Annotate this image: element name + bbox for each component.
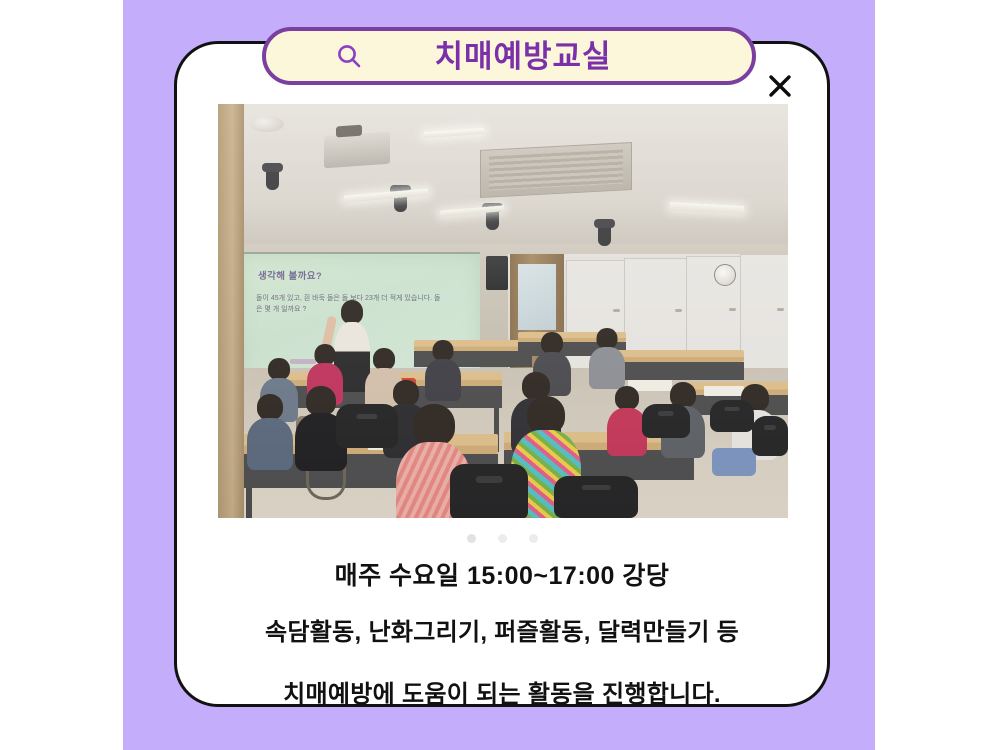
photo-aircon-vent xyxy=(480,142,632,198)
photo-image: 생각해 볼까요? 돌이 45개 있고, 흰 바둑 돌은 돌 보다 23개 더 적… xyxy=(218,104,788,518)
description-line-1: 속담활동, 난화그리기, 퍼즐활동, 달력만들기 등 xyxy=(177,621,827,645)
classroom-photo[interactable]: 생각해 볼까요? 돌이 45개 있고, 흰 바둑 돌은 돌 보다 23개 더 적… xyxy=(218,104,788,518)
photo-person-head xyxy=(433,340,454,361)
close-button[interactable] xyxy=(762,68,798,104)
photo-pillar xyxy=(218,104,244,518)
photo-chair xyxy=(336,404,398,448)
photo-table-leg xyxy=(246,488,252,518)
title-pill: 치매예방교실 xyxy=(262,27,756,85)
photo-person-head xyxy=(257,394,283,420)
schedule-text: 매주 수요일 15:00~17:00 강당 xyxy=(335,562,670,590)
description-line-2: 치매예방에 도움이 되는 활동을 진행합니다. xyxy=(177,683,827,707)
carousel-dot-3[interactable] xyxy=(529,534,538,543)
photo-slide-title: 생각해 볼까요? xyxy=(258,268,322,282)
photo-person-legs xyxy=(712,448,756,476)
photo-track-light xyxy=(598,224,611,246)
photo-chair xyxy=(752,416,788,456)
photo-chair xyxy=(450,464,528,518)
schedule-line: 매주 수요일 15:00~17:00 강당 xyxy=(325,556,680,595)
photo-person-body xyxy=(589,347,625,389)
photo-person-head xyxy=(268,358,290,380)
photo-participant xyxy=(588,328,626,386)
photo-chair xyxy=(642,404,690,438)
search-icon[interactable] xyxy=(334,41,364,71)
photo-person-body xyxy=(607,408,647,456)
photo-chair xyxy=(554,476,638,518)
photo-person-body xyxy=(425,359,461,401)
photo-track-light xyxy=(266,168,279,190)
photo-wall-clock-icon xyxy=(714,264,736,286)
screenshot-root: 생각해 볼까요? 돌이 45개 있고, 흰 바둑 돌은 돌 보다 23개 더 적… xyxy=(0,0,1000,750)
photo-person-head xyxy=(541,332,563,354)
photo-person-head xyxy=(373,348,395,370)
photo-person-head xyxy=(393,380,419,406)
photo-person-head xyxy=(597,328,618,349)
carousel-dots xyxy=(177,534,827,543)
info-card: 생각해 볼까요? 돌이 45개 있고, 흰 바둑 돌은 돌 보다 23개 더 적… xyxy=(174,41,830,707)
photo-person-body xyxy=(247,418,293,470)
photo-person-head xyxy=(341,300,363,324)
photo-person-head xyxy=(315,344,336,365)
carousel-dot-2[interactable] xyxy=(498,534,507,543)
photo-smoke-detector-icon xyxy=(250,116,284,132)
photo-door-window xyxy=(518,264,556,330)
photo-speaker xyxy=(486,256,508,290)
photo-person-head xyxy=(306,386,336,416)
close-icon xyxy=(767,73,793,99)
photo-projector xyxy=(324,132,390,169)
carousel-dot-1[interactable] xyxy=(467,534,476,543)
photo-person-head xyxy=(527,396,565,434)
content-text-block: 매주 수요일 15:00~17:00 강당 속담활동, 난화그리기, 퍼즐활동,… xyxy=(177,556,827,707)
photo-person-head xyxy=(615,386,639,410)
photo-table-skirt xyxy=(616,362,744,380)
photo-table xyxy=(616,350,744,362)
photo-chair xyxy=(710,400,754,432)
photo-person-head xyxy=(413,404,455,446)
photo-participant xyxy=(246,394,294,466)
